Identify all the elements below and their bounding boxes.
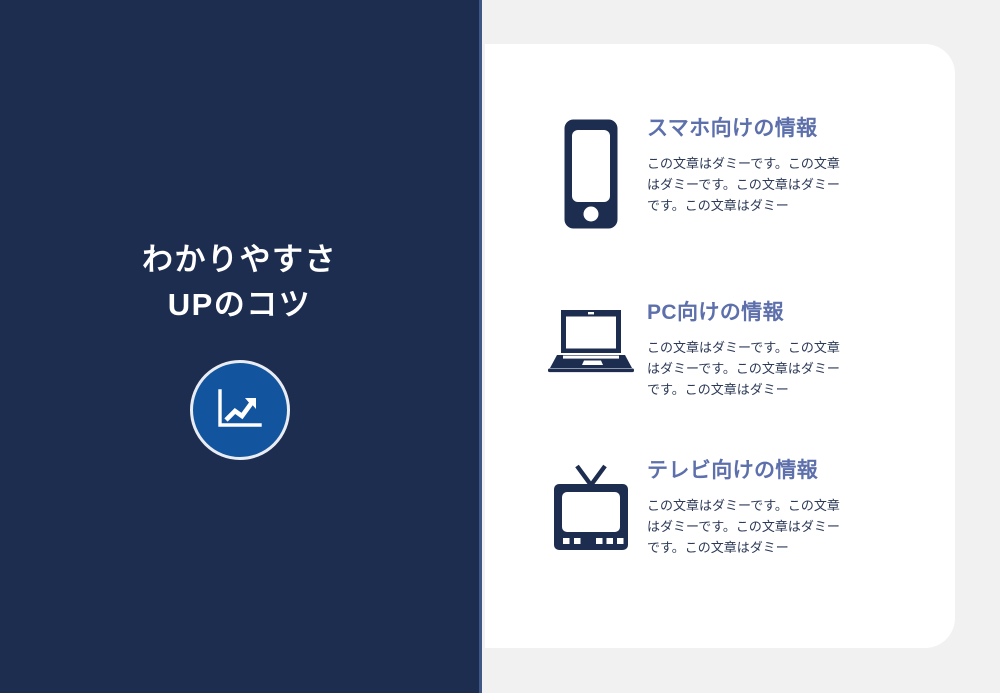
feature-heading: テレビ向けの情報 xyxy=(647,458,925,483)
feature-body: この文章はダミーです。この文章はダミーです。この文章はダミーです。この文章はダミ… xyxy=(647,495,847,558)
page-title-line-1: わかりやすさ xyxy=(0,238,479,283)
feature-body: この文章はダミーです。この文章はダミーです。この文章はダミーです。この文章はダミ… xyxy=(647,153,847,216)
feature-heading: PC向けの情報 xyxy=(647,300,925,325)
feature-text-pc: PC向けの情報 この文章はダミーです。この文章はダミーです。この文章はダミーです… xyxy=(637,296,925,400)
feature-item-pc[interactable]: PC向けの情報 この文章はダミーです。この文章はダミーです。この文章はダミーです… xyxy=(545,296,925,400)
feature-list: スマホ向けの情報 この文章はダミーです。この文章はダミーです。この文章はダミーで… xyxy=(485,44,955,648)
television-icon xyxy=(545,454,637,554)
features-card: スマホ向けの情報 この文章はダミーです。この文章はダミーです。この文章はダミーで… xyxy=(485,44,955,648)
feature-text-smartphone: スマホ向けの情報 この文章はダミーです。この文章はダミーです。この文章はダミーで… xyxy=(637,112,925,216)
feature-body: この文章はダミーです。この文章はダミーです。この文章はダミーです。この文章はダミ… xyxy=(647,337,847,400)
feature-item-tv[interactable]: テレビ向けの情報 この文章はダミーです。この文章はダミーです。この文章はダミーで… xyxy=(545,454,925,558)
smartphone-icon xyxy=(545,112,637,230)
feature-heading: スマホ向けの情報 xyxy=(647,116,925,141)
page-title-line-2: UPのコツ xyxy=(0,283,479,328)
page-title: わかりやすさ UPのコツ xyxy=(0,238,479,328)
laptop-icon xyxy=(545,296,637,374)
chart-line-up-icon xyxy=(190,360,290,460)
feature-item-smartphone[interactable]: スマホ向けの情報 この文章はダミーです。この文章はダミーです。この文章はダミーで… xyxy=(545,112,925,230)
feature-text-tv: テレビ向けの情報 この文章はダミーです。この文章はダミーです。この文章はダミーで… xyxy=(637,454,925,558)
left-title-panel: わかりやすさ UPのコツ xyxy=(0,0,482,693)
slide-canvas: わかりやすさ UPのコツ xyxy=(0,0,1000,693)
